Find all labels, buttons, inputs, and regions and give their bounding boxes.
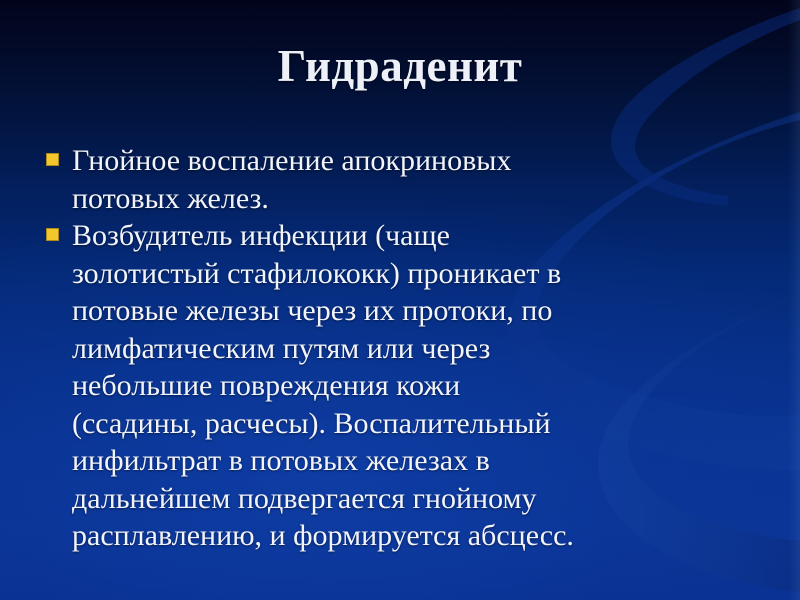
bullet-line: небольшие повреждения кожи: [72, 367, 760, 405]
bullet-line: (ссадины, расчесы). Воспалительный: [72, 405, 760, 443]
slide-body: Гнойное воспаление апокриновых потовых ж…: [40, 142, 760, 555]
square-bullet-icon: [46, 228, 59, 241]
bullet-text: Возбудитель инфекции (чаще золотистый ст…: [72, 217, 760, 555]
bullet-line: золотистый стафилококк) проникает в: [72, 255, 760, 293]
bullet-line: дальнейшем подвергается гнойному: [72, 480, 760, 518]
bullet-line: лимфатическим путям или через: [72, 330, 760, 368]
bullet-text: Гнойное воспаление апокриновых потовых ж…: [72, 142, 760, 217]
square-bullet-icon: [46, 153, 59, 166]
bullet-line: расплавлению, и формируется абсцесс.: [72, 517, 760, 555]
bullet-line: потовые железы через их протоки, по: [72, 292, 760, 330]
list-item: Гнойное воспаление апокриновых потовых ж…: [40, 142, 760, 217]
bullet-line: Возбудитель инфекции (чаще: [72, 217, 760, 255]
presentation-slide: Гидраденит Гнойное воспаление апокриновы…: [0, 0, 800, 600]
bullet-line: инфильтрат в потовых железах в: [72, 442, 760, 480]
slide-title: Гидраденит: [0, 40, 800, 92]
bullet-line: Гнойное воспаление апокриновых: [72, 142, 760, 180]
list-item: Возбудитель инфекции (чаще золотистый ст…: [40, 217, 760, 555]
bullet-line: потовых желез.: [72, 180, 760, 218]
